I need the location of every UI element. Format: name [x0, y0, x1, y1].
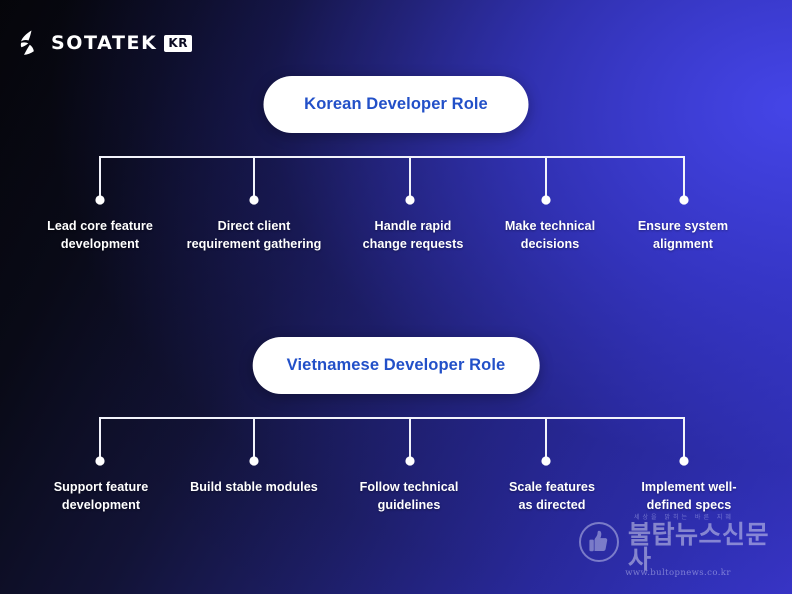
korean-item-0: Lead core feature development [25, 218, 175, 254]
korean-connectors [0, 152, 792, 212]
korean-item-3: Make technical decisions [475, 218, 625, 254]
watermark-url: www.bultopnews.co.kr [578, 568, 778, 578]
vietnamese-item-0: Support feature development [26, 479, 176, 515]
vietnamese-role-title: Vietnamese Developer Role [287, 356, 506, 375]
news-watermark: 세상을 밝히는 바른 지혜 불탑뉴스신문사 www.bultopnews.co.… [578, 520, 778, 582]
vietnamese-item-2: Follow technical guidelines [334, 479, 484, 515]
brand-name: SOTATEK [51, 34, 157, 53]
korean-connector-lines [0, 152, 792, 212]
watermark-row: 세상을 밝히는 바른 지혜 불탑뉴스신문사 [578, 520, 778, 564]
watermark-text-block: 세상을 밝히는 바른 지혜 불탑뉴스신문사 [628, 512, 778, 572]
sotatek-logo: SOTATEK KR [20, 29, 192, 57]
vietnamese-connectors [0, 413, 792, 473]
thumbs-up-circle-icon [578, 521, 620, 563]
watermark-name: 불탑뉴스신문사 [628, 522, 778, 572]
korean-item-1: Direct client requirement gathering [167, 218, 342, 254]
vietnamese-role-pill[interactable]: Vietnamese Developer Role [253, 337, 540, 394]
vietnamese-item-3: Scale features as directed [477, 479, 627, 515]
sotatek-leaf-mark-icon [20, 29, 44, 57]
korean-item-4: Ensure system alignment [608, 218, 758, 254]
korean-item-2: Handle rapid change requests [338, 218, 488, 254]
korean-role-title: Korean Developer Role [304, 95, 488, 114]
vietnamese-item-4: Implement well- defined specs [609, 479, 769, 515]
vietnamese-item-1: Build stable modules [167, 479, 342, 497]
slide-canvas: SOTATEK KR Korean Developer Role [0, 0, 792, 594]
vietnamese-connector-lines [0, 413, 792, 473]
korean-role-pill[interactable]: Korean Developer Role [264, 76, 529, 133]
brand-region-badge: KR [164, 35, 192, 52]
